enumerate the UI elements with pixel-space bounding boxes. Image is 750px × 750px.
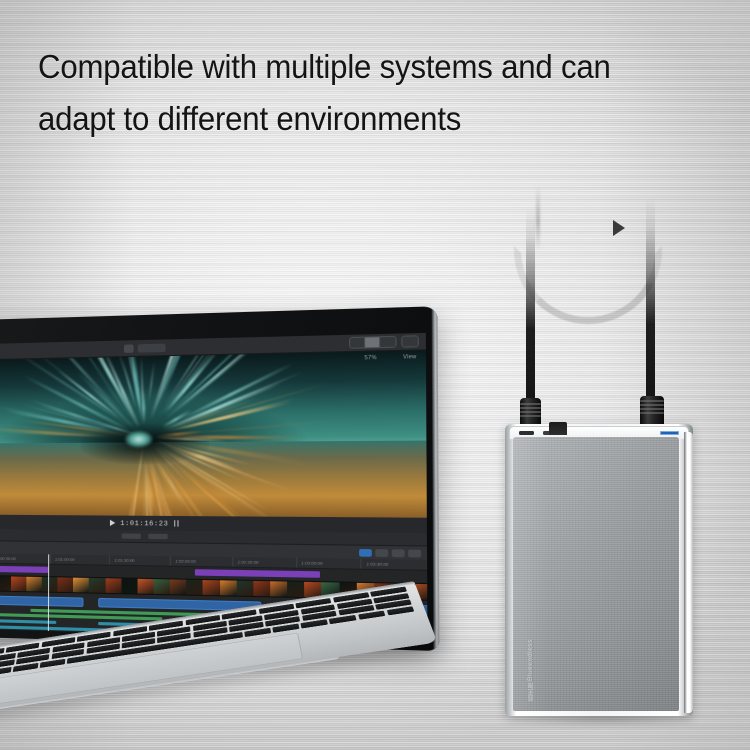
- enclosure-polished-chamfer: [684, 432, 693, 713]
- filmstrip-thumbnail: [203, 580, 220, 595]
- filmstrip-thumbnail: [42, 577, 58, 592]
- filmstrip-thumbnail: [154, 579, 170, 594]
- viewer-icon: [123, 344, 133, 353]
- play-triangle-icon: [613, 220, 625, 236]
- cable-fade-ghost: [536, 186, 540, 250]
- timeline-marker[interactable]: [0, 566, 48, 573]
- external-hard-drive-enclosure: Blueendless 蓝无限: [505, 424, 693, 716]
- filmstrip-thumbnail: [73, 578, 89, 593]
- filmstrip-thumbnail: [186, 580, 203, 595]
- connected-plug-head: [549, 422, 567, 435]
- product-scene: Compatible with multiple systems and can…: [0, 0, 750, 750]
- appearance-button[interactable]: [375, 549, 388, 557]
- filmstrip-thumbnail: [11, 576, 27, 591]
- tunnel-vanishing-point: [125, 431, 153, 448]
- view-mode-segmented-control[interactable]: [349, 336, 397, 349]
- filmstrip-thumbnail: [26, 577, 42, 592]
- filmstrip-thumbnail: [287, 582, 304, 598]
- enclosure-surface-texture: [513, 437, 679, 711]
- usb-cable: [646, 198, 655, 416]
- power-cable: [526, 208, 535, 416]
- index-button[interactable]: [359, 548, 372, 556]
- viewer-canvas: 57% View: [0, 350, 427, 517]
- usb3-port[interactable]: [660, 431, 679, 435]
- keyboard-key[interactable]: [0, 667, 12, 676]
- viewer-title-group: [123, 343, 165, 352]
- view-mode-option-1[interactable]: [350, 338, 365, 348]
- usb-plug-grip-ridges: [640, 400, 664, 414]
- transitions-button[interactable]: [408, 549, 421, 557]
- ruler-tick: 1:01:30:00: [109, 555, 170, 565]
- viewer-zoom-level[interactable]: 57%: [365, 355, 377, 362]
- playhead[interactable]: [48, 554, 49, 631]
- ruler-tick: 1:02:00:00: [170, 556, 232, 567]
- effects-button[interactable]: [392, 549, 405, 557]
- filmstrip-thumbnail: [0, 576, 11, 591]
- filmstrip-thumbnail: [236, 581, 253, 596]
- filmstrip-thumbnail: [220, 580, 237, 595]
- enclosure-front-face: Blueendless 蓝无限: [513, 437, 679, 711]
- filmstrip-thumbnail: [253, 581, 270, 596]
- ruler-tick: 1:01:00:00: [50, 554, 109, 564]
- timeline-toolbar-right: [359, 548, 421, 557]
- video-clip[interactable]: [0, 595, 83, 607]
- transport-label-left: [121, 533, 140, 538]
- ruler-tick: 1:00:30:00: [0, 554, 50, 564]
- dc-power-port[interactable]: [519, 431, 534, 435]
- layout-option-1[interactable]: [402, 336, 417, 346]
- play-icon[interactable]: [110, 520, 115, 526]
- ruler-tick: 1:02:30:00: [232, 557, 296, 568]
- transport-label-right: [148, 534, 167, 539]
- timeline-marker[interactable]: [195, 569, 320, 578]
- brand-engraving: Blueendless: [527, 639, 534, 681]
- filmstrip-thumbnail: [57, 577, 73, 592]
- tunnel-footage: [0, 350, 427, 517]
- laptop: 57% View 1:01:16:23: [0, 322, 408, 722]
- headline-text: Compatible with multiple systems and can…: [38, 42, 680, 146]
- filmstrip-thumbnail: [89, 578, 105, 593]
- viewer-title: [137, 343, 165, 352]
- ruler-tick: 1:03:00:00: [296, 558, 361, 569]
- filmstrip-thumbnail: [121, 578, 137, 593]
- filmstrip-thumbnail: [105, 578, 121, 593]
- ruler-tick: 1:03:30:00: [361, 559, 428, 570]
- viewer-toolbar-right: [349, 335, 419, 349]
- filmstrip-thumbnail: [270, 581, 287, 596]
- view-mode-option-3[interactable]: [380, 337, 395, 347]
- dc-plug-grip-ridges: [520, 403, 541, 418]
- motion-blur-streaks: [0, 350, 427, 517]
- cable-group: [480, 190, 710, 440]
- cable-loop-arc: [514, 246, 662, 324]
- view-mode-option-2[interactable]: [365, 337, 380, 347]
- brand-engraving-sub: 蓝无限: [527, 682, 536, 702]
- filmstrip-thumbnail: [170, 579, 186, 594]
- filmstrip-thumbnail: [137, 579, 153, 594]
- pause-icon[interactable]: [174, 520, 179, 526]
- timecode-display: 1:01:16:23: [120, 519, 168, 527]
- layout-toggle[interactable]: [401, 335, 419, 347]
- viewer-view-menu[interactable]: View: [403, 354, 417, 361]
